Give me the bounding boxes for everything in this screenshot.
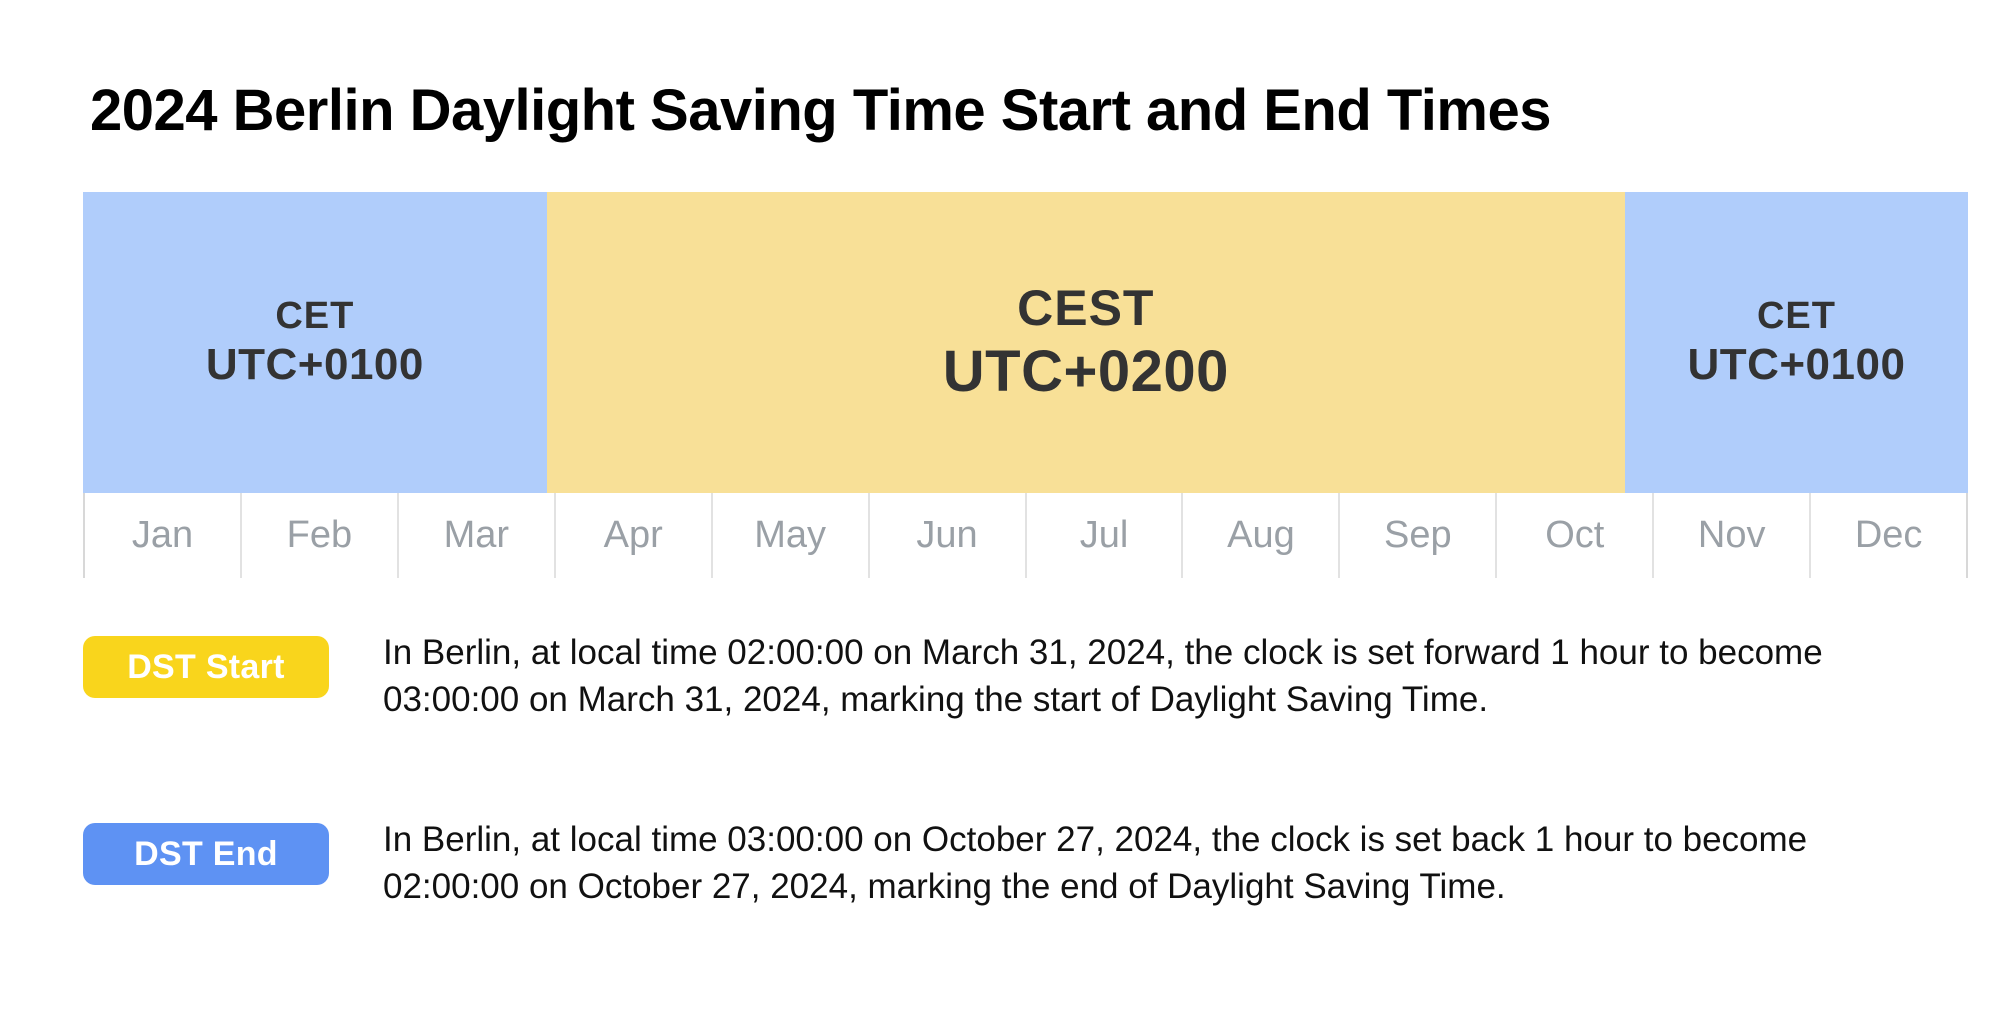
timezone-abbreviation: CEST <box>1017 279 1154 338</box>
timezone-segment-cest-1: CESTUTC+0200 <box>547 192 1625 493</box>
month-label-may: May <box>713 493 870 578</box>
timezone-segment-cet-2: CETUTC+0100 <box>1625 192 1968 493</box>
page-title: 2024 Berlin Daylight Saving Time Start a… <box>90 77 1551 144</box>
timezone-segment-cet-0: CETUTC+0100 <box>83 192 547 493</box>
month-label-oct: Oct <box>1497 493 1654 578</box>
dst-infographic-page: 2024 Berlin Daylight Saving Time Start a… <box>0 0 2001 1022</box>
month-label-jun: Jun <box>870 493 1027 578</box>
timezone-utc-offset: UTC+0200 <box>943 338 1229 406</box>
month-label-apr: Apr <box>556 493 713 578</box>
status-badge: DST Start <box>83 636 329 698</box>
month-label-nov: Nov <box>1654 493 1811 578</box>
dst-event-row: DST StartIn Berlin, at local time 02:00:… <box>83 630 1963 723</box>
month-label-jul: Jul <box>1027 493 1184 578</box>
dst-event-row: DST EndIn Berlin, at local time 03:00:00… <box>83 817 1963 910</box>
dst-event-description: In Berlin, at local time 02:00:00 on Mar… <box>383 630 1943 723</box>
timezone-bar: CETUTC+0100CESTUTC+0200CETUTC+0100 <box>83 192 1968 493</box>
timezone-abbreviation: CET <box>275 294 354 339</box>
month-label-dec: Dec <box>1811 493 1966 578</box>
timezone-timeline: CETUTC+0100CESTUTC+0200CETUTC+0100 JanFe… <box>83 192 1968 493</box>
status-badge: DST End <box>83 823 329 885</box>
month-label-jan: Jan <box>85 493 242 578</box>
month-label-mar: Mar <box>399 493 556 578</box>
month-label-aug: Aug <box>1183 493 1340 578</box>
dst-event-description: In Berlin, at local time 03:00:00 on Oct… <box>383 817 1943 910</box>
month-label-feb: Feb <box>242 493 399 578</box>
dst-event-list: DST StartIn Berlin, at local time 02:00:… <box>83 630 1963 1004</box>
timezone-abbreviation: CET <box>1757 294 1836 339</box>
timezone-utc-offset: UTC+0100 <box>1687 339 1905 391</box>
month-label-sep: Sep <box>1340 493 1497 578</box>
timezone-utc-offset: UTC+0100 <box>206 339 424 391</box>
month-axis: JanFebMarAprMayJunJulAugSepOctNovDec <box>83 493 1968 578</box>
